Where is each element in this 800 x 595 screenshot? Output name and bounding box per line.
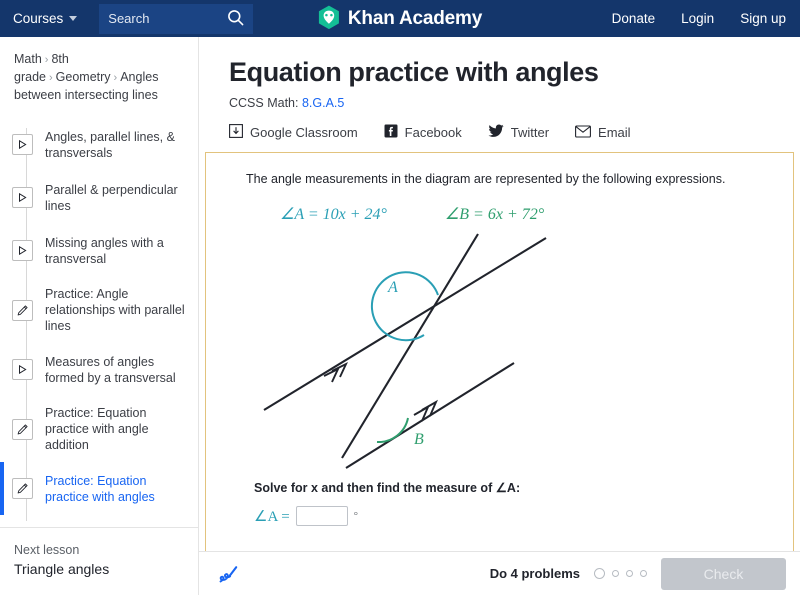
share-label: Google Classroom [250,125,358,140]
sidebar-item-angles-parallel-lines-transversals[interactable]: Angles, parallel lines, & transversals [0,118,198,171]
answer-label: ∠A = [254,507,290,526]
problem-dot-3[interactable] [626,570,633,577]
share-label: Twitter [511,125,549,140]
angle-b-label: B [414,431,424,448]
expression-angle-a: ∠A = 10x + 24° [280,204,387,224]
facebook-icon [384,124,398,141]
top-navigation-bar: Courses Search Khan Academy Donate Login… [0,0,800,37]
video-play-icon [12,240,33,261]
twitter-icon [488,124,504,141]
login-link[interactable]: Login [681,11,714,26]
main-content: Equation practice with angles CCSS Math:… [199,37,800,595]
do-problems-label: Do 4 problems [490,566,580,581]
breadcrumb: Math›8th grade›Geometry›Angles between i… [0,37,198,114]
exercise-body: The angle measurements in the diagram ar… [206,153,793,526]
sidebar-item-practice-equation-angle-addition[interactable]: Practice: Equation practice with angle a… [0,396,198,462]
donate-link[interactable]: Donate [612,11,656,26]
share-google-classroom-button[interactable]: Google Classroom [229,124,358,141]
sidebar-item-label: Missing angles with a transversal [45,235,188,267]
breadcrumb-separator: › [114,72,118,84]
share-email-button[interactable]: Email [575,125,631,141]
exercise-prompt: The angle measurements in the diagram ar… [246,170,771,188]
pencil-icon [12,478,33,499]
email-icon [575,125,591,141]
angle-expressions: ∠A = 10x + 24° ∠B = 6x + 72° [246,188,771,224]
chevron-down-icon [69,16,77,21]
next-lesson-section: Next lesson Triangle angles [0,527,198,595]
brand-name: Khan Academy [348,8,482,30]
ccss-label: CCSS Math: [229,96,298,110]
breadcrumb-separator: › [45,54,49,66]
sidebar-item-label: Angles, parallel lines, & transversals [45,129,188,161]
exercise-footer-bar: Do 4 problems Check [199,551,800,595]
parallel-line-upper [264,238,546,410]
problem-dot-1[interactable] [594,568,605,579]
google-classroom-icon [229,124,243,141]
sidebar-item-label: Practice: Equation practice with angle a… [45,405,188,453]
video-play-icon [12,187,33,208]
share-row: Google Classroom Facebook Twitter [199,110,800,141]
page-body: Math›8th grade›Geometry›Angles between i… [0,37,800,595]
breadcrumb-item-math[interactable]: Math [14,52,42,66]
courses-menu-label: Courses [13,11,63,26]
share-label: Email [598,125,631,140]
share-facebook-button[interactable]: Facebook [384,124,462,141]
sidebar-item-label: Practice: Angle relationships with paral… [45,286,188,334]
angle-a-arc [372,272,438,340]
ccss-standard: CCSS Math: 8.G.A.5 [229,96,776,110]
search-icon[interactable] [227,9,244,29]
courses-menu-button[interactable]: Courses [13,11,77,26]
sidebar-item-label: Measures of angles formed by a transvers… [45,354,188,386]
sidebar-item-practice-angle-relationships[interactable]: Practice: Angle relationships with paral… [0,277,198,343]
lesson-sidebar: Math›8th grade›Geometry›Angles between i… [0,37,199,595]
breadcrumb-item-geometry[interactable]: Geometry [56,70,111,84]
sidebar-item-label: Parallel & perpendicular lines [45,182,188,214]
sidebar-item-measures-angles-transversal[interactable]: Measures of angles formed by a transvers… [0,343,198,396]
problem-dot-2[interactable] [612,570,619,577]
search-placeholder: Search [108,11,227,26]
answer-row: ∠A = ° [246,495,771,526]
problem-progress-dots [594,568,647,579]
breadcrumb-separator: › [49,72,53,84]
search-input[interactable]: Search [99,4,253,34]
video-play-icon [12,134,33,155]
signup-link[interactable]: Sign up [740,11,786,26]
page-title: Equation practice with angles [229,55,776,89]
angles-diagram: A B [246,230,771,478]
sidebar-item-label: Practice: Equation practice with angles [45,473,188,505]
exercise-header: Equation practice with angles CCSS Math:… [199,37,800,110]
next-lesson-label: Next lesson [14,541,184,559]
share-label: Facebook [405,125,462,140]
top-nav-links: Donate Login Sign up [612,11,786,26]
active-item-indicator [0,462,4,515]
next-lesson-title[interactable]: Triangle angles [14,559,184,579]
problem-dot-4[interactable] [640,570,647,577]
angle-b-arc [377,418,408,442]
pencil-icon [12,419,33,440]
exercise-card: The angle measurements in the diagram ar… [205,152,794,551]
sidebar-item-missing-angles-transversal[interactable]: Missing angles with a transversal [0,224,198,277]
scratchpad-pencil-icon[interactable] [217,563,239,585]
share-twitter-button[interactable]: Twitter [488,124,549,141]
lesson-list: Angles, parallel lines, & transversals P… [0,114,198,527]
check-button[interactable]: Check [661,558,786,590]
video-play-icon [12,359,33,380]
ccss-code-link[interactable]: 8.G.A.5 [302,96,344,110]
sidebar-item-parallel-perpendicular-lines[interactable]: Parallel & perpendicular lines [0,171,198,224]
khan-academy-leaf-icon [318,5,340,33]
exercise-question: Solve for x and then find the measure of… [246,478,771,495]
khan-academy-logo[interactable]: Khan Academy [318,5,482,33]
transversal-line [342,234,478,458]
expression-angle-b: ∠B = 6x + 72° [445,204,544,224]
pencil-icon [12,300,33,321]
angle-a-label: A [387,279,398,296]
footer-right-group: Do 4 problems Check [490,558,786,590]
answer-input[interactable] [296,506,348,526]
sidebar-item-practice-equation-practice-with-angles[interactable]: Practice: Equation practice with angles [0,462,198,515]
degree-unit: ° [354,510,358,522]
